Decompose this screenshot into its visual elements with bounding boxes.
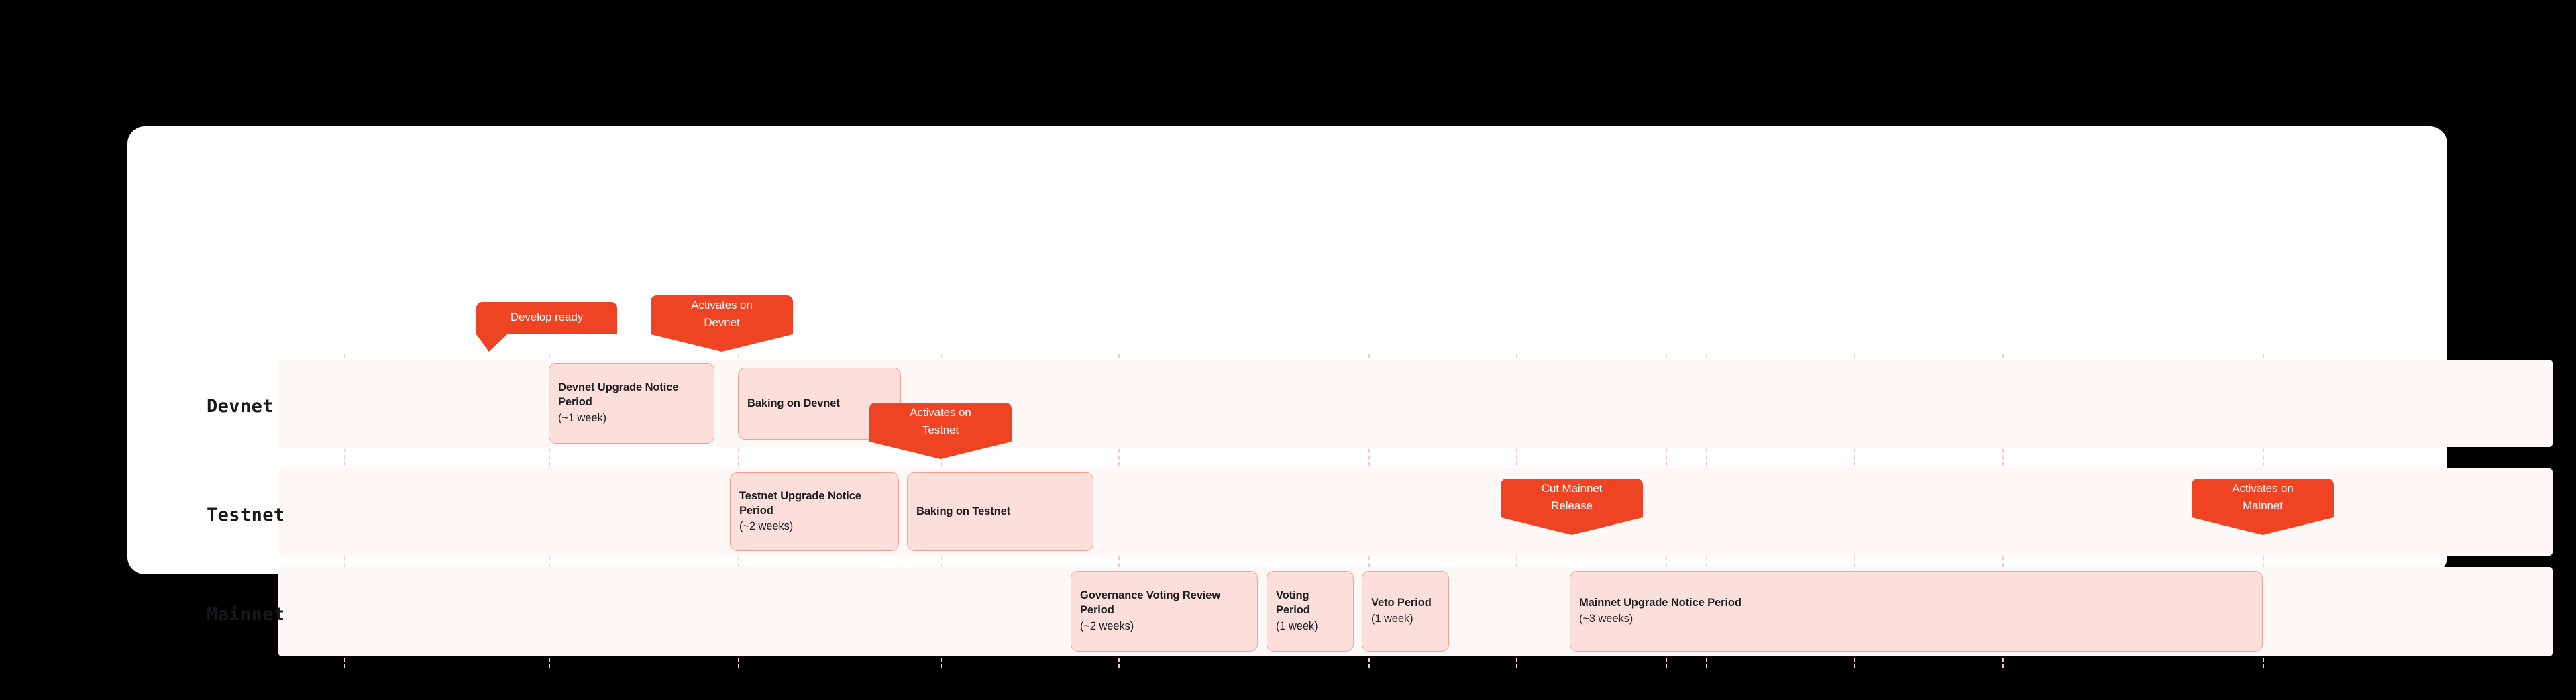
period-baking-on-testnet[interactable]: Baking on Testnet (907, 472, 1093, 551)
period-duration: (~3 weeks) (1579, 612, 2253, 627)
lane-label-devnet: Devnet (207, 396, 274, 417)
period-devnet-upgrade-notice[interactable]: Devnet Upgrade Notice Period (~1 week) (549, 363, 714, 444)
period-title: Voting Period (1276, 589, 1344, 618)
period-duration: (~1 week) (558, 411, 705, 426)
timeline-diagram: Devnet Testnet Mainnet Devnet Upgrade No… (0, 0, 2576, 700)
period-duration: (1 week) (1276, 619, 1344, 634)
marker-activates-on-mainnet[interactable]: Activates onMainnet (2192, 479, 2334, 517)
marker-label: Develop ready (511, 309, 583, 326)
period-title: Baking on Testnet (916, 505, 1084, 519)
period-title: Mainnet Upgrade Notice Period (1579, 596, 2253, 611)
marker-activates-on-testnet[interactable]: Activates onTestnet (869, 403, 1012, 442)
marker-develop-ready[interactable]: Develop ready (476, 302, 617, 334)
period-governance-voting-review[interactable]: Governance Voting Review Period (~2 week… (1071, 571, 1258, 652)
period-title: Testnet Upgrade Notice Period (739, 489, 890, 519)
marker-cut-mainnet-release[interactable]: Cut MainnetRelease (1501, 479, 1643, 517)
period-testnet-upgrade-notice[interactable]: Testnet Upgrade Notice Period (~2 weeks) (730, 472, 899, 551)
period-voting[interactable]: Voting Period (1 week) (1267, 571, 1354, 652)
period-title: Devnet Upgrade Notice Period (558, 381, 705, 410)
marker-activates-on-devnet[interactable]: Activates onDevnet (651, 295, 793, 334)
marker-label: Cut MainnetRelease (1542, 480, 1603, 515)
marker-label: Activates onDevnet (691, 297, 752, 332)
lane-label-mainnet: Mainnet (207, 604, 285, 625)
period-duration: (1 week) (1371, 612, 1440, 627)
period-veto[interactable]: Veto Period (1 week) (1362, 571, 1449, 652)
period-mainnet-upgrade-notice[interactable]: Mainnet Upgrade Notice Period (~3 weeks) (1570, 571, 2263, 652)
period-duration: (~2 weeks) (1080, 619, 1248, 634)
lane-label-testnet: Testnet (207, 505, 285, 526)
period-title: Veto Period (1371, 596, 1440, 611)
period-duration: (~2 weeks) (739, 519, 890, 534)
marker-label: Activates onTestnet (910, 404, 971, 439)
timeline-card: Devnet Testnet Mainnet Devnet Upgrade No… (127, 126, 2447, 574)
marker-label: Activates onMainnet (2232, 480, 2293, 515)
period-title: Governance Voting Review Period (1080, 589, 1248, 618)
